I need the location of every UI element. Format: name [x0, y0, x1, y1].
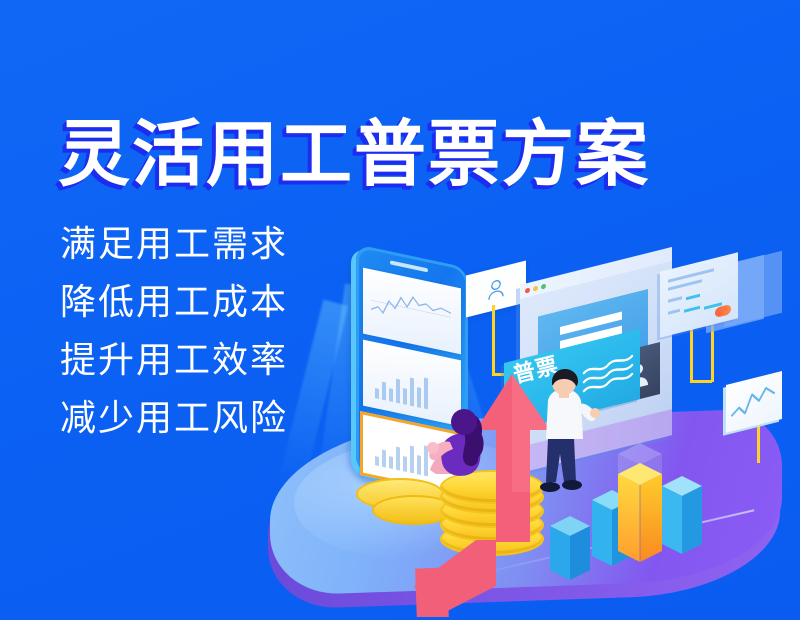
subtitle-item-4: 减少用工风险 [60, 392, 288, 444]
line-chart-icon [371, 283, 451, 334]
text-line [684, 306, 700, 313]
poster-canvas: 普票 [0, 0, 800, 620]
connector-wire [492, 305, 495, 375]
subtitle-list: 满足用工需求 降低用工成本 提升用工效率 减少用工风险 [60, 218, 288, 450]
page-title: 灵活用工普票方案 [58, 95, 650, 200]
text-line [668, 309, 680, 315]
subtitle-item-1: 满足用工需求 [60, 218, 288, 270]
minimize-dot-icon [533, 285, 538, 291]
user-profile-card [466, 261, 526, 318]
bar-3 [618, 463, 662, 562]
maximize-dot-icon [541, 283, 546, 289]
subtitle-item-3: 提升用工效率 [60, 334, 288, 386]
close-dot-icon [525, 287, 530, 293]
text-line [668, 296, 682, 302]
connector-wire [690, 380, 712, 383]
standing-man-figure [528, 368, 600, 500]
seated-woman-figure [424, 398, 504, 498]
phone-speaker-icon [390, 260, 428, 272]
subtitle-item-2: 降低用工成本 [60, 276, 288, 328]
user-icon [487, 277, 505, 301]
bar-4 [662, 476, 702, 554]
browser-titlebar [520, 247, 672, 299]
text-line [686, 294, 700, 300]
phone-chart-card [363, 268, 461, 355]
text-line [668, 268, 714, 282]
